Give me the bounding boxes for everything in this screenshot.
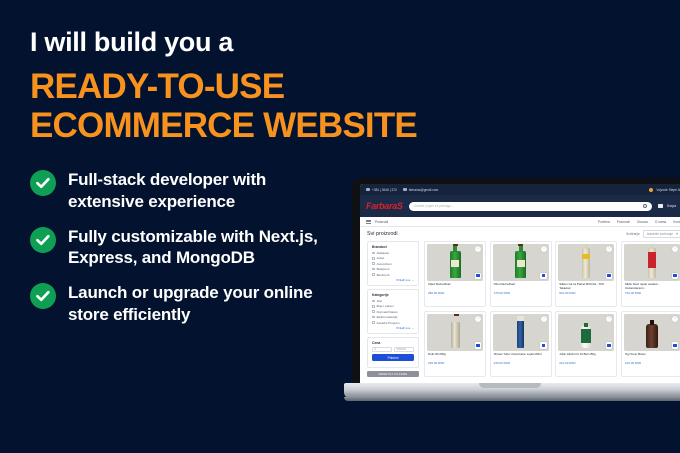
filter-label: Automibum	[377, 262, 392, 266]
product-card[interactable]: ♡ Jubin Akrilni Kit 10 Beli 150g 210.00 …	[555, 311, 617, 377]
checkbox[interactable]	[372, 316, 375, 319]
cart-icon	[673, 344, 677, 347]
product-thumbnail: ♡	[427, 314, 483, 351]
product-name: SEAL Roof repair sealant - Vodoizolacion…	[625, 283, 679, 290]
checkbox[interactable]	[372, 321, 375, 324]
favorite-icon[interactable]: ♡	[606, 246, 612, 252]
product-image-green-bottle	[515, 251, 526, 278]
product-image-blue-tube	[517, 320, 524, 348]
product-name: Silikon Git za Parket BUK/JA - TKK Tekad…	[559, 283, 613, 290]
product-price: 280.00 RSD	[428, 291, 482, 295]
checkbox[interactable]	[372, 252, 375, 255]
product-grid: ♡ Uljani Razređivač 280.00 RSD ♡	[424, 241, 680, 377]
laptop-notch	[479, 383, 541, 388]
laptop-screen-bezel: +381 | 0646 | 370 farbaras@gmail.com Voj…	[352, 178, 680, 392]
benefit-text: Fully customizable with Next.js, Express…	[68, 226, 328, 270]
filter-label: Benbomb	[377, 273, 390, 277]
cart-icon	[673, 274, 677, 277]
product-price: 720.00 RSD	[625, 291, 679, 295]
product-thumbnail: ♡	[624, 314, 680, 351]
cart-icon	[607, 274, 611, 277]
ecommerce-site: +381 | 0646 | 370 farbaras@gmail.com Voj…	[360, 184, 680, 377]
filter-option[interactable]: Automibum	[372, 262, 414, 266]
product-thumbnail: ♡	[493, 244, 549, 281]
catalog-label[interactable]: Proizvodi	[375, 220, 388, 224]
nav-links: Početna Proizvodi Osnova O nama Kontakt	[598, 220, 680, 224]
favorite-icon[interactable]: ♡	[672, 246, 678, 252]
product-image-green-bottle	[450, 251, 461, 278]
list-item: Full-stack developer with extensive expe…	[30, 169, 350, 213]
location-item: Vojvode Stepe 48/b	[649, 188, 680, 192]
product-thumbnail: ♡	[427, 244, 483, 281]
add-to-cart-button[interactable]	[540, 342, 547, 349]
sort-label: Sortiranje	[626, 232, 640, 236]
filter-option[interactable]: Elektromaterijal	[372, 315, 414, 319]
product-thumbnail: ♡	[558, 314, 614, 351]
header-actions: Korpa	[658, 204, 680, 208]
add-to-cart-button[interactable]	[475, 342, 482, 349]
filter-option[interactable]: Alat	[372, 299, 414, 303]
product-card[interactable]: ♡ SEAL Roof repair sealant - Vodoizolaci…	[621, 241, 680, 307]
checkbox[interactable]	[372, 268, 375, 271]
checkbox[interactable]	[372, 300, 375, 303]
product-card[interactable]: ♡ Nitro Razređivač 175.00 RSD	[490, 241, 552, 307]
checkbox[interactable]	[372, 257, 375, 260]
apply-filter-button[interactable]: Primeni	[372, 354, 414, 361]
cart-icon[interactable]	[658, 204, 663, 208]
checkbox[interactable]	[372, 305, 375, 308]
price-title: Cena	[372, 341, 414, 345]
brands-title: Brandovi	[372, 245, 414, 249]
favorite-icon[interactable]: ♡	[672, 316, 678, 322]
headline-line-1: READY-TO-USE	[30, 67, 350, 106]
nav-link-onama[interactable]: O nama	[655, 220, 666, 224]
filter-sidebar: Brandovi Alabaster Anker Automibum Belap…	[367, 241, 419, 377]
site-logo[interactable]: FarbaraS	[366, 201, 403, 211]
checkbox[interactable]	[372, 310, 375, 313]
site-navbar: Proizvodi Početna Proizvodi Osnova O nam…	[360, 217, 680, 227]
product-card[interactable]: ♡ Ogi Toner Braon 160.00 RSD	[621, 311, 680, 377]
laptop-foot	[344, 397, 680, 401]
nav-link-kontakt[interactable]: Kontakt	[673, 220, 680, 224]
email-text: farbaras@gmail.com	[409, 188, 438, 192]
phone-icon	[366, 188, 370, 191]
search-input[interactable]: Unesite pojam za pretragu...	[409, 202, 652, 211]
favorite-icon[interactable]: ♡	[475, 246, 481, 252]
add-to-cart-button[interactable]	[672, 273, 679, 280]
product-price: 160.00 RSD	[625, 361, 679, 365]
categories-filter: Kategorije Alat Boje i Lakovi Dormak/Vra…	[367, 289, 419, 334]
filter-option[interactable]: Fasadni Program	[372, 321, 414, 325]
brands-filter: Brandovi Alabaster Anker Automibum Belap…	[367, 241, 419, 286]
mail-icon	[403, 188, 407, 191]
laptop-screen: +381 | 0646 | 370 farbaras@gmail.com Voj…	[360, 184, 680, 392]
filter-label: Dormak/Vrataru	[377, 310, 398, 314]
check-circle-icon	[30, 227, 56, 253]
favorite-icon[interactable]: ♡	[541, 246, 547, 252]
pin-icon	[649, 188, 653, 192]
price-filter: Cena 0 500000 Primeni	[367, 337, 419, 368]
filter-label: Belaprent	[377, 267, 390, 271]
sort-select[interactable]: Izaberite sortiranje	[643, 230, 680, 238]
checkbox[interactable]	[372, 262, 375, 265]
page-header: Svi proizvodi Sortiranje Izaberite sorti…	[360, 227, 680, 241]
sort-control: Sortiranje Izaberite sortiranje	[626, 230, 680, 238]
cart-icon	[476, 274, 480, 277]
headline-line-2: ECOMMERCE WEBSITE	[30, 106, 350, 145]
favorite-icon[interactable]: ♡	[541, 316, 547, 322]
product-name: Ogi Toner Braon	[625, 353, 679, 360]
filter-label: Anker	[377, 256, 385, 260]
product-image-brown-bottle	[646, 324, 658, 348]
phone-text: +381 | 0646 | 370	[372, 188, 397, 192]
cart-icon	[542, 344, 546, 347]
product-name: Uljani Razređivač	[428, 283, 482, 290]
product-thumbnail: ♡	[624, 244, 680, 281]
filter-label: Elektromaterijal	[377, 315, 398, 319]
add-to-cart-button[interactable]	[475, 273, 482, 280]
sort-value: Izaberite sortiranje	[647, 232, 673, 236]
checkbox[interactable]	[372, 273, 375, 276]
product-thumbnail: ♡	[558, 244, 614, 281]
price-range-inputs: 0 500000	[372, 347, 414, 352]
filter-option[interactable]: Belaprent	[372, 267, 414, 271]
product-card[interactable]: ♡ Uljani Razređivač 280.00 RSD	[424, 241, 486, 307]
product-price: 175.00 RSD	[494, 291, 548, 295]
list-item: Fully customizable with Next.js, Express…	[30, 226, 350, 270]
cart-icon	[607, 344, 611, 347]
product-card[interactable]: ♡ Silikon Git za Parket BUK/JA - TKK Tek…	[555, 241, 617, 307]
product-name: Nitro Razređivač	[494, 283, 548, 290]
check-circle-icon	[30, 170, 56, 196]
email-item: farbaras@gmail.com	[403, 188, 438, 192]
product-thumbnail: ♡	[493, 314, 549, 351]
location-text: Vojvode Stepe 48/b	[656, 188, 680, 192]
product-price: 210.00 RSD	[559, 361, 613, 365]
product-image-cream-bottle	[451, 322, 460, 348]
logo-accent: S	[397, 201, 403, 211]
nav-link-proizvodi[interactable]: Proizvodi	[617, 220, 630, 224]
search-placeholder: Unesite pojam za pretragu...	[414, 204, 454, 208]
product-card[interactable]: ♡ Dufix 80 250g 235.00 RSD	[424, 311, 486, 377]
filter-option[interactable]: Dormak/Vrataru	[372, 310, 414, 314]
page-title: Svi proizvodi	[367, 231, 398, 237]
favorite-icon[interactable]: ♡	[475, 316, 481, 322]
check-circle-icon	[30, 283, 56, 309]
product-image-red-tube	[648, 248, 656, 278]
benefits-list: Full-stack developer with extensive expe…	[30, 169, 350, 326]
add-to-cart-button[interactable]	[672, 342, 679, 349]
product-price: 610.00 RSD	[559, 291, 613, 295]
filter-label: Boje i Lakovi	[377, 304, 394, 308]
cart-label[interactable]: Korpa	[667, 204, 676, 208]
benefit-text: Full-stack developer with extensive expe…	[68, 169, 328, 213]
logo-text: Farbara	[366, 201, 397, 211]
filter-option[interactable]: Alabaster	[372, 251, 414, 255]
phone-item: +381 | 0646 | 370	[366, 188, 397, 192]
add-to-cart-button[interactable]	[540, 273, 547, 280]
brands-show-all-link[interactable]: Prikaži sve →	[372, 278, 414, 282]
cart-icon	[542, 274, 546, 277]
price-max-input[interactable]: 500000	[394, 347, 414, 352]
filter-option[interactable]: Boje i Lakovi	[372, 304, 414, 308]
favorite-icon[interactable]: ♡	[606, 316, 612, 322]
reset-filters-button[interactable]: RESETUJ FILTERE	[367, 371, 419, 378]
product-name: Jubin Akrilni Kit 10 Beli 150g	[559, 353, 613, 360]
product-price: 235.00 RSD	[428, 361, 482, 365]
filter-label: Alabaster	[377, 251, 390, 255]
cart-icon	[476, 344, 480, 347]
product-price: 235.00 RSD	[494, 361, 548, 365]
product-name: Dufix 80 250g	[428, 353, 482, 360]
add-to-cart-button[interactable]	[606, 273, 613, 280]
headline-large: READY-TO-USE ECOMMERCE WEBSITE	[30, 67, 350, 145]
headline-small: I will build you a	[30, 28, 350, 58]
filter-label: Fasadni Program	[377, 321, 400, 325]
search-icon[interactable]	[643, 204, 647, 208]
categories-show-all-link[interactable]: Prikaži sve →	[372, 326, 414, 330]
catalog-body: Brandovi Alabaster Anker Automibum Belap…	[360, 241, 680, 377]
price-min-input[interactable]: 0	[372, 347, 392, 352]
product-name: Strisan Tube Univerzalno Lepilo 80ml	[494, 353, 548, 360]
product-image-yellow-tube	[582, 248, 590, 278]
benefit-text: Launch or upgrade your online store effi…	[68, 282, 328, 326]
add-to-cart-button[interactable]	[606, 342, 613, 349]
laptop-mockup: +381 | 0646 | 370 farbaras@gmail.com Voj…	[330, 178, 680, 438]
site-header: FarbaraS Unesite pojam za pretragu... Ko…	[360, 195, 680, 217]
site-topbar: +381 | 0646 | 370 farbaras@gmail.com Voj…	[360, 184, 680, 195]
categories-title: Kategorije	[372, 293, 414, 297]
product-image-green-tube	[581, 326, 591, 348]
filter-label: Alat	[377, 299, 382, 303]
list-item: Launch or upgrade your online store effi…	[30, 282, 350, 326]
promo-panel: I will build you a READY-TO-USE ECOMMERC…	[0, 0, 350, 453]
chevron-down-icon	[676, 233, 678, 235]
menu-icon[interactable]	[366, 220, 371, 224]
filter-option[interactable]: Anker	[372, 256, 414, 260]
filter-option[interactable]: Benbomb	[372, 273, 414, 277]
nav-link-osnova[interactable]: Osnova	[637, 220, 648, 224]
nav-link-pocetna[interactable]: Početna	[598, 220, 610, 224]
product-card[interactable]: ♡ Strisan Tube Univerzalno Lepilo 80ml 2…	[490, 311, 552, 377]
